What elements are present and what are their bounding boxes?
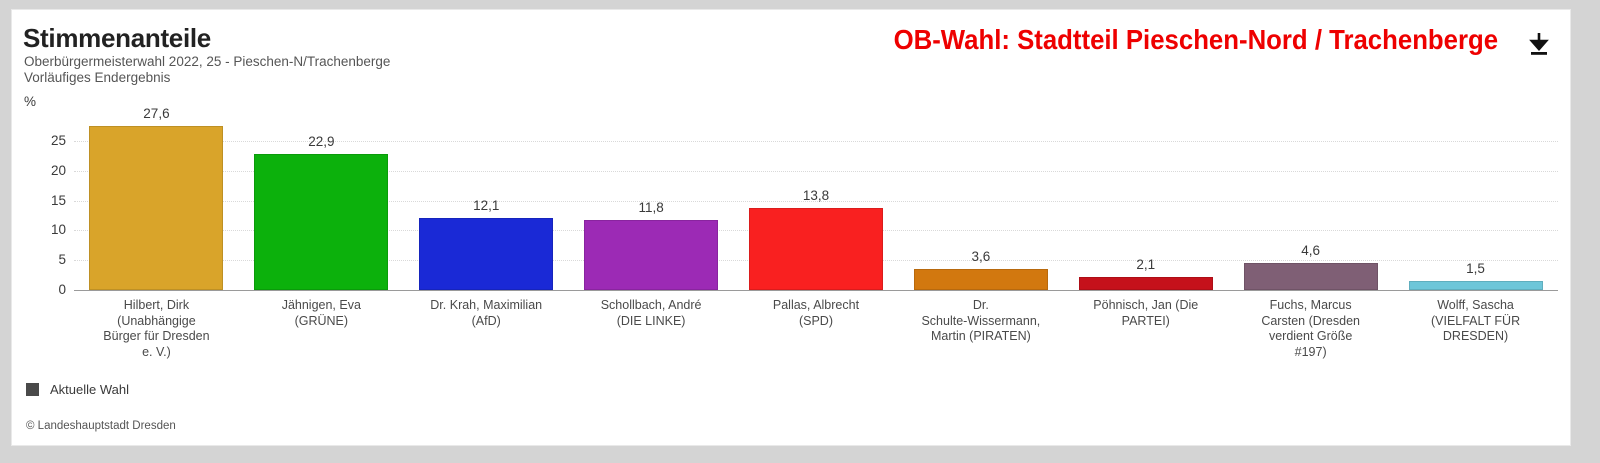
y-axis-tick: 15	[26, 193, 66, 208]
x-axis-label: Fuchs, MarcusCarsten (Dresdenverdient Gr…	[1232, 298, 1389, 360]
bar[interactable]	[1244, 263, 1378, 290]
x-axis-label: Dr.Schulte-Wissermann,Martin (PIRATEN)	[902, 298, 1059, 345]
bar[interactable]	[254, 154, 388, 290]
x-axis-label: Wolff, Sascha(VIELFALT FÜRDRESDEN)	[1397, 298, 1554, 345]
bar[interactable]	[1409, 281, 1543, 290]
legend-item-label: Aktuelle Wahl	[50, 382, 129, 397]
bar-value-label: 13,8	[749, 188, 883, 203]
bar[interactable]	[1079, 277, 1213, 290]
y-axis-tick: 0	[26, 282, 66, 297]
x-axis-label: Jähnigen, Eva(GRÜNE)	[243, 298, 400, 329]
bar[interactable]	[584, 220, 718, 290]
x-axis-label: Schollbach, André(DIE LINKE)	[573, 298, 730, 329]
x-axis-label: Hilbert, Dirk(UnabhängigeBürger für Dres…	[78, 298, 235, 360]
x-axis-line	[74, 290, 1558, 291]
bar-chart: % 0510152025 27,622,912,111,813,83,62,14…	[12, 10, 1570, 445]
bar-value-label: 11,8	[584, 200, 718, 215]
bar-value-label: 27,6	[89, 106, 223, 121]
bar[interactable]	[419, 218, 553, 290]
bar-value-label: 2,1	[1079, 257, 1213, 272]
bar-value-label: 1,5	[1409, 261, 1543, 276]
y-axis-tick: 10	[26, 222, 66, 237]
x-axis-label: Dr. Krah, Maximilian(AfD)	[408, 298, 565, 329]
y-axis: 0510152025	[20, 10, 66, 310]
x-axis-label: Pallas, Albrecht(SPD)	[738, 298, 895, 329]
bar[interactable]	[749, 208, 883, 290]
y-axis-tick: 25	[26, 133, 66, 148]
x-axis-label: Pöhnisch, Jan (DiePARTEI)	[1067, 298, 1224, 329]
bar-value-label: 3,6	[914, 249, 1048, 264]
y-axis-tick: 5	[26, 252, 66, 267]
chart-panel: Stimmenanteile Oberbürgermeisterwahl 202…	[12, 10, 1570, 445]
bar-value-label: 12,1	[419, 198, 553, 213]
copyright-notice: © Landeshauptstadt Dresden	[26, 420, 176, 432]
bar[interactable]	[89, 126, 223, 290]
legend-swatch	[26, 383, 39, 396]
bar-value-label: 22,9	[254, 134, 388, 149]
bar-value-label: 4,6	[1244, 243, 1378, 258]
legend: Aktuelle Wahl	[26, 382, 129, 397]
bar[interactable]	[914, 269, 1048, 290]
y-axis-tick: 20	[26, 163, 66, 178]
